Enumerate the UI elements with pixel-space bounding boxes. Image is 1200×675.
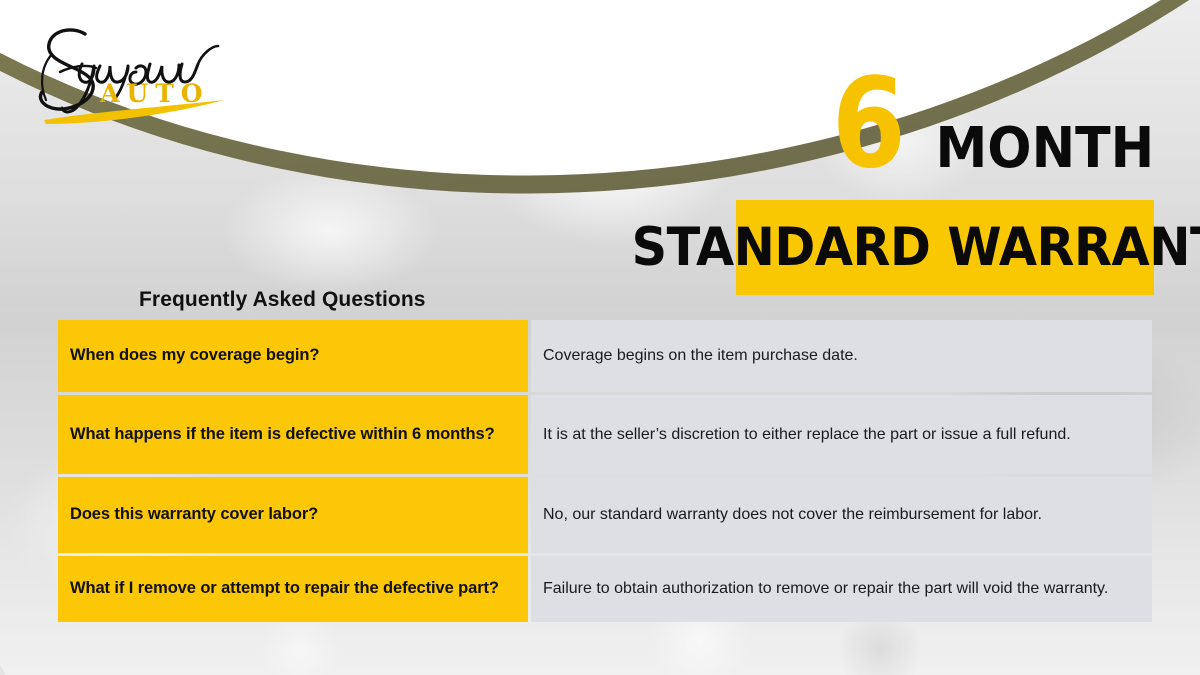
faq-table: When does my coverage begin? Coverage be… <box>58 320 1152 622</box>
faq-answer-cell: It is at the seller’s discretion to eith… <box>531 395 1152 474</box>
warranty-title-banner: STANDARD WARRANTY <box>736 200 1154 295</box>
faq-answer-text: It is at the seller’s discretion to eith… <box>543 424 1140 445</box>
faq-answer-text: Failure to obtain authorization to remov… <box>543 578 1140 599</box>
table-row: What happens if the item is defective wi… <box>58 395 1152 474</box>
faq-answer-cell: No, our standard warranty does not cover… <box>531 477 1152 553</box>
warranty-title-text: STANDARD WARRANTY <box>632 217 1200 278</box>
duration-unit: MONTH <box>935 125 1154 176</box>
faq-question-cell: What if I remove or attempt to repair th… <box>58 556 528 622</box>
faq-question-cell: What happens if the item is defective wi… <box>58 395 528 474</box>
faq-answer-text: No, our standard warranty does not cover… <box>543 504 1140 525</box>
faq-question-cell: When does my coverage begin? <box>58 320 528 392</box>
faq-question-cell: Does this warranty cover labor? <box>58 477 528 553</box>
faq-answer-cell: Coverage begins on the item purchase dat… <box>531 320 1152 392</box>
warranty-slide: AUTO 6 MONTH STANDARD WARRANTY Frequentl… <box>0 0 1200 675</box>
faq-answer-cell: Failure to obtain authorization to remov… <box>531 556 1152 622</box>
duration-number: 6 <box>832 74 904 176</box>
seymour-auto-logo[interactable]: AUTO <box>22 20 232 132</box>
faq-answer-text: Coverage begins on the item purchase dat… <box>543 345 1140 366</box>
table-row: When does my coverage begin? Coverage be… <box>58 320 1152 392</box>
table-row: Does this warranty cover labor? No, our … <box>58 477 1152 553</box>
table-row: What if I remove or attempt to repair th… <box>58 556 1152 622</box>
faq-heading: Frequently Asked Questions <box>139 288 426 312</box>
duration-headline: 6 MONTH <box>820 74 1154 176</box>
